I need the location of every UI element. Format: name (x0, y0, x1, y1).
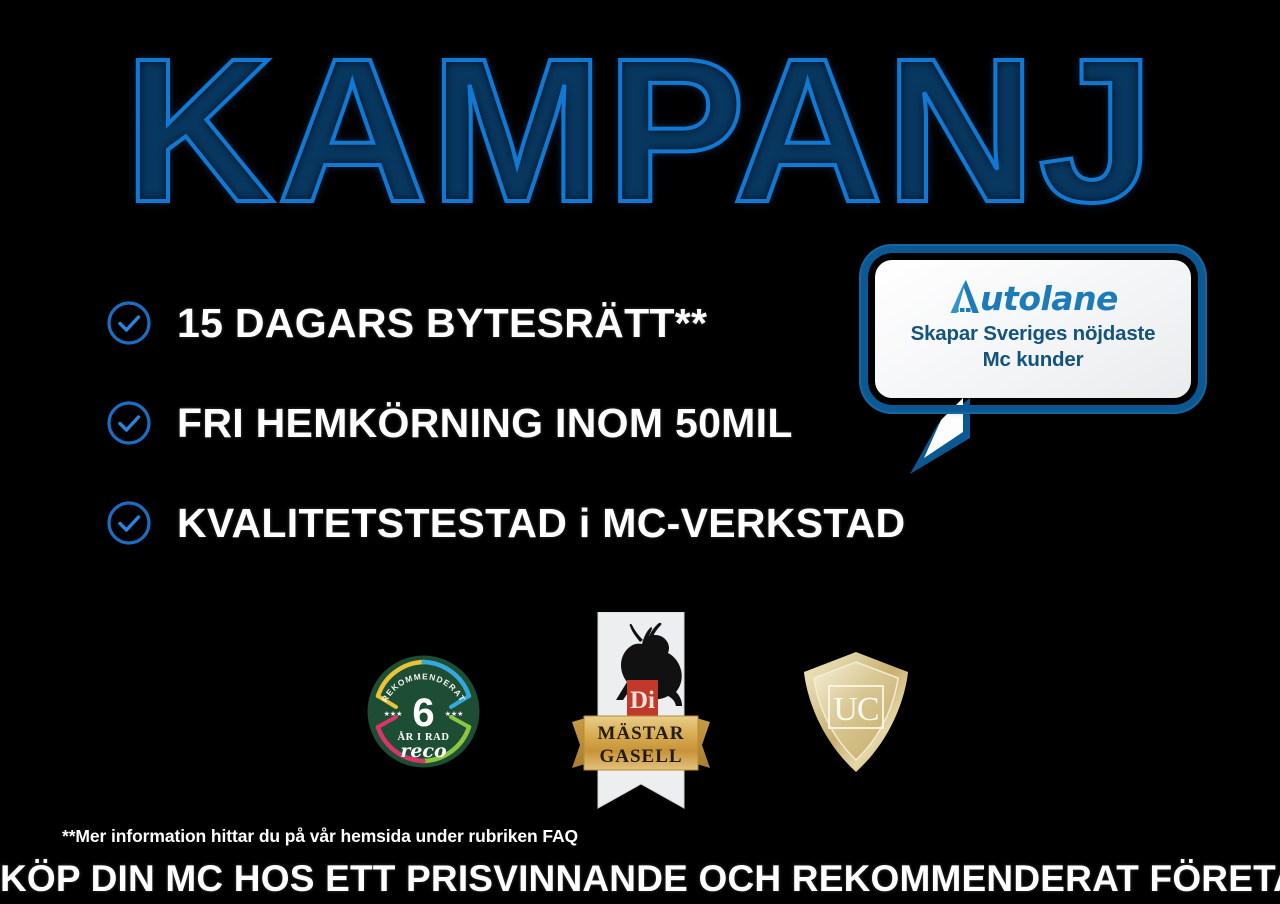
feature-label: KVALITETSTESTAD i MC-VERKSTAD (177, 500, 905, 547)
feature-label: 15 DAGARS BYTESRÄTT** (177, 300, 707, 347)
feature-item-kvalitetstestad: KVALITETSTESTAD i MC-VERKSTAD (105, 492, 925, 554)
feature-list: 15 DAGARS BYTESRÄTT** FRI HEMKÖRNING INO… (105, 292, 925, 592)
autolane-tagline-line1: Skapar Sveriges nöjdaste (911, 321, 1156, 347)
reco-year-count: 6 (412, 691, 434, 735)
uc-shield-badge: UC (800, 650, 912, 775)
award-badges: REKOMMENDERAT 6 ★★★ ★★★ ÅR I RAD reco (0, 600, 1280, 830)
footer-note: **Mer information hittar du på vår hemsi… (62, 826, 578, 847)
speech-bubble-tail (908, 398, 988, 476)
page-title: KAMPANJ (124, 28, 1157, 233)
footer-headline: KÖP DIN MC HOS ETT PRISVINNANDE OCH REKO… (0, 858, 1280, 900)
reco-recommended-badge: REKOMMENDERAT 6 ★★★ ★★★ ÅR I RAD reco (366, 654, 481, 769)
autolane-tagline-line2: Mc kunder (983, 347, 1084, 373)
campaign-banner: KAMPANJ 15 DAGARS BYTESRÄTT** FRI HEMKÖR… (0, 0, 1280, 904)
check-circle-icon (105, 299, 153, 347)
autolane-a-icon (948, 279, 982, 315)
reco-stars-right: ★★★ (445, 710, 464, 718)
uc-shield-label: UC (833, 691, 878, 728)
gasell-ribbon-line2: GASELL (599, 746, 682, 767)
check-circle-icon (105, 499, 153, 547)
gasell-ribbon-line1: MÄSTAR (598, 723, 685, 744)
di-mastar-gasell-badge: Di MÄSTAR GASELL (570, 612, 712, 827)
check-circle-icon (105, 399, 153, 447)
autolane-speech-bubble: utolane Skapar Sveriges nöjdaste Mc kund… (868, 253, 1198, 405)
autolane-wordmark: utolane (980, 282, 1118, 315)
feature-item-hemkorning: FRI HEMKÖRNING INOM 50MIL (105, 392, 925, 454)
feature-label: FRI HEMKÖRNING INOM 50MIL (177, 400, 793, 447)
speech-bubble-content: utolane Skapar Sveriges nöjdaste Mc kund… (875, 260, 1191, 398)
autolane-logo: utolane (948, 279, 1118, 315)
feature-item-bytesratt: 15 DAGARS BYTESRÄTT** (105, 292, 925, 354)
reco-stars-left: ★★★ (384, 710, 403, 718)
page-title-container: KAMPANJ (0, 28, 1280, 233)
reco-brand: reco (400, 740, 447, 762)
di-logo-text: Di (630, 687, 655, 714)
